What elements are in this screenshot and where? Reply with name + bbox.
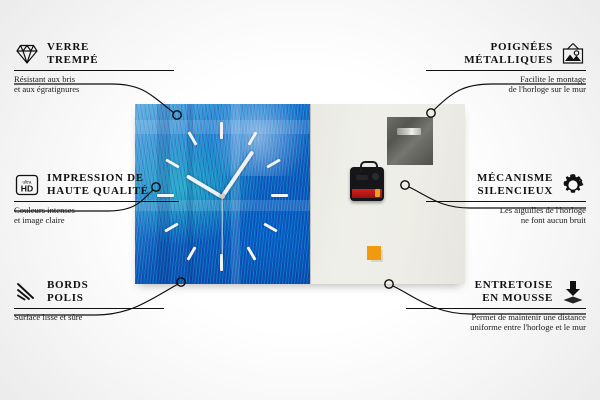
feature-impression-haute-qualite: ultra HD IMPRESSION DE HAUTE QUALITÉ Cou… xyxy=(14,172,179,226)
feature-subtitle-line1: Résistant aux bris xyxy=(14,74,174,84)
feature-mecanisme-silencieux: MÉCANISME SILENCIEUX Les aiguilles de l'… xyxy=(426,172,586,226)
feature-divider xyxy=(426,70,586,71)
feature-header: VERRE TREMPÉ xyxy=(14,41,174,67)
picture-hanger-icon xyxy=(560,41,586,67)
artwork-band xyxy=(231,104,240,284)
feature-subtitle-line2: ne font aucun bruit xyxy=(426,215,586,225)
feature-header: POIGNÉES MÉTALLIQUES xyxy=(426,41,586,67)
feature-subtitle-line1: Couleurs intenses xyxy=(14,205,179,215)
feature-title: MÉCANISME SILENCIEUX xyxy=(477,172,553,198)
feature-subtitle-line2: et aux égratignures xyxy=(14,84,174,94)
clock-tick xyxy=(220,122,223,139)
hanger-slot xyxy=(397,128,421,135)
clock-second-hand xyxy=(221,197,222,259)
infographic-canvas: VERRE TREMPÉ Résistant aux bris et aux é… xyxy=(0,0,600,400)
svg-text:HD: HD xyxy=(21,184,33,194)
feature-subtitle-line1: Permet de maintenir une distance xyxy=(406,312,586,322)
feature-divider xyxy=(14,308,164,309)
clock-tick xyxy=(263,222,277,232)
feature-subtitle-line2: uniforme entre l'horloge et le mur xyxy=(406,322,586,332)
diamond-icon xyxy=(14,41,40,67)
product-image xyxy=(135,104,465,284)
panel-seam xyxy=(310,104,311,284)
feature-header: MÉCANISME SILENCIEUX xyxy=(426,172,586,198)
gear-icon xyxy=(560,172,586,198)
mechanism-panel xyxy=(356,175,368,180)
feature-subtitle-line1: Les aiguilles de l'horloge xyxy=(426,205,586,215)
battery xyxy=(352,189,382,198)
feature-subtitle-line2: et image claire xyxy=(14,215,179,225)
feature-header: ultra HD IMPRESSION DE HAUTE QUALITÉ xyxy=(14,172,179,198)
feature-subtitle-line2: de l'horloge sur le mur xyxy=(426,84,586,94)
feature-verre-trempe: VERRE TREMPÉ Résistant aux bris et aux é… xyxy=(14,41,174,95)
polished-edges-icon xyxy=(14,279,40,305)
clock-mechanism xyxy=(350,167,384,201)
feature-header: ENTRETOISE EN MOUSSE xyxy=(406,279,586,305)
feature-subtitle-line1: Surface lisse et sûre xyxy=(14,312,164,322)
artwork-highlight xyxy=(209,104,307,176)
feature-title: POIGNÉES MÉTALLIQUES xyxy=(464,41,553,67)
clock-tick xyxy=(271,194,288,197)
feature-header: BORDS POLIS xyxy=(14,279,164,305)
mechanism-knob xyxy=(372,173,379,180)
feature-poignees-metalliques: POIGNÉES MÉTALLIQUES Facilite le montage… xyxy=(426,41,586,95)
battery-terminal xyxy=(375,189,380,197)
ultra-hd-icon: ultra HD xyxy=(14,172,40,198)
feature-title: IMPRESSION DE HAUTE QUALITÉ xyxy=(47,172,149,198)
feature-title: ENTRETOISE EN MOUSSE xyxy=(475,279,553,305)
feature-title: BORDS POLIS xyxy=(47,279,88,305)
foam-spacer xyxy=(367,246,381,260)
clock-tick xyxy=(246,246,256,260)
feature-bords-polis: BORDS POLIS Surface lisse et sûre xyxy=(14,279,164,322)
foam-spacer-icon xyxy=(560,279,586,305)
clock-center-hub xyxy=(220,194,225,199)
feature-divider xyxy=(14,70,174,71)
feature-entretoise-en-mousse: ENTRETOISE EN MOUSSE Permet de maintenir… xyxy=(406,279,586,333)
feature-subtitle-line1: Facilite le montage xyxy=(426,74,586,84)
feature-divider xyxy=(14,201,179,202)
feature-divider xyxy=(426,201,586,202)
mechanism-hook xyxy=(360,161,378,172)
feature-divider xyxy=(406,308,586,309)
metal-hanger-plate xyxy=(387,117,433,165)
feature-title: VERRE TREMPÉ xyxy=(47,41,98,67)
